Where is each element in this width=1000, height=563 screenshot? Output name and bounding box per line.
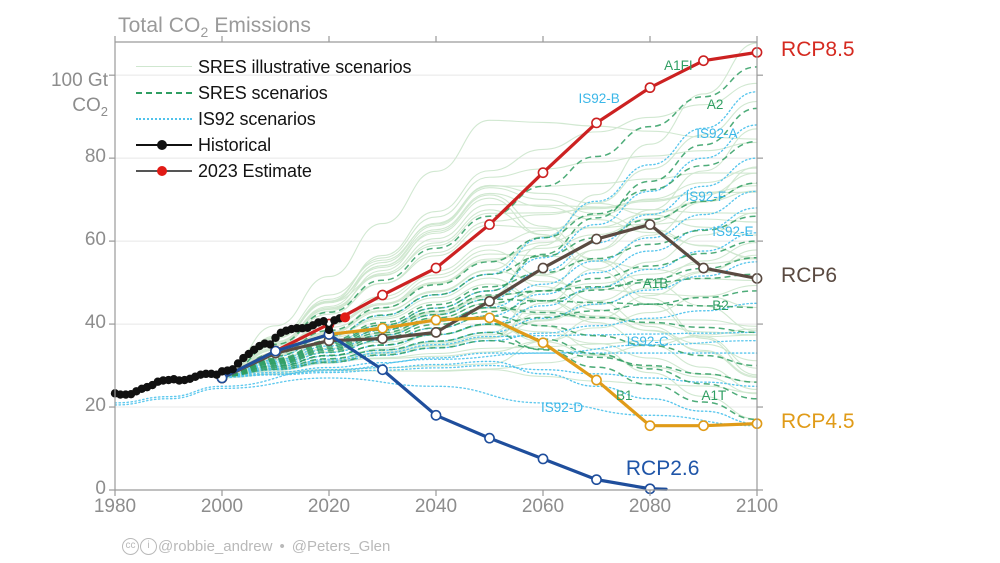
x-tick-label: 2080 xyxy=(610,496,690,518)
scenario-label-a1fi: A1FI xyxy=(664,58,693,73)
scenario-label-is92-c: IS92-C xyxy=(627,334,669,349)
y-tick-label: 40 xyxy=(40,312,106,334)
scenario-label-b1: B1 xyxy=(616,388,633,403)
scenario-label-is92-a: IS92-A xyxy=(696,126,737,141)
scenario-label-a2: A2 xyxy=(707,97,724,112)
rcp-label-rcp8-5: RCP8.5 xyxy=(781,38,855,62)
credit-separator: • xyxy=(279,538,284,555)
scenario-label-is92-e: IS92-E xyxy=(712,224,753,239)
scenario-label-is92-d: IS92-D xyxy=(541,400,583,415)
legend-item: SRES illustrative scenarios xyxy=(136,54,411,80)
y-axis-label-line1: 100 Gt xyxy=(42,68,108,93)
scenario-label-is92-b: IS92-B xyxy=(579,91,620,106)
rcp-label-rcp2-6: RCP2.6 xyxy=(626,457,700,481)
credit-line: cc i @robbie_andrew • @Peters_Glen xyxy=(122,538,390,555)
legend-swatch xyxy=(136,110,192,128)
legend-item: Historical xyxy=(136,132,411,158)
legend-label: IS92 scenarios xyxy=(198,109,316,130)
legend-label: 2023 Estimate xyxy=(198,161,312,182)
chart-figure: Total CO2 Emissions 100 Gt CO2 020406080… xyxy=(0,0,1000,563)
y-tick-label: 20 xyxy=(40,395,106,417)
credit-handle-2: @Peters_Glen xyxy=(292,538,391,555)
y-axis-label: 100 Gt CO2 xyxy=(42,68,108,124)
legend-swatch xyxy=(136,84,192,102)
legend-swatch xyxy=(136,58,192,76)
x-tick-label: 2000 xyxy=(182,496,262,518)
creative-commons-icon: cc xyxy=(122,538,139,555)
chart-title: Total CO2 Emissions xyxy=(118,14,311,40)
scenario-label-b2: B2 xyxy=(712,298,729,313)
legend-item: SRES scenarios xyxy=(136,80,411,106)
legend-item: IS92 scenarios xyxy=(136,106,411,132)
historical-marker-icon xyxy=(157,140,167,150)
legend-label: SRES scenarios xyxy=(198,83,328,104)
rcp-label-rcp6: RCP6 xyxy=(781,264,837,288)
attribution-icon: i xyxy=(140,538,157,555)
legend-swatch xyxy=(136,136,192,154)
x-tick-label: 1980 xyxy=(75,496,155,518)
estimate-marker-icon xyxy=(157,166,167,176)
scenario-label-a1t: A1T xyxy=(702,388,727,403)
y-tick-label: 80 xyxy=(40,146,106,168)
x-tick-label: 2020 xyxy=(289,496,369,518)
legend-item: 2023 Estimate xyxy=(136,158,411,184)
credit-handle-1: @robbie_andrew xyxy=(158,538,272,555)
scenario-label-a1b: A1B xyxy=(643,276,669,291)
chart-title-prefix: Total CO xyxy=(118,14,201,37)
chart-title-suffix: Emissions xyxy=(208,14,311,37)
x-tick-label: 2100 xyxy=(717,496,797,518)
rcp-label-rcp4-5: RCP4.5 xyxy=(781,410,855,434)
x-tick-label: 2060 xyxy=(503,496,583,518)
chart-legend: SRES illustrative scenariosSRES scenario… xyxy=(136,54,411,184)
x-tick-label: 2040 xyxy=(396,496,476,518)
scenario-label-is92-f: IS92-F xyxy=(686,189,727,204)
legend-label: Historical xyxy=(198,135,271,156)
legend-swatch xyxy=(136,162,192,180)
y-axis-label-line2: CO2 xyxy=(42,93,108,124)
y-tick-label: 60 xyxy=(40,229,106,251)
legend-label: SRES illustrative scenarios xyxy=(198,57,411,78)
